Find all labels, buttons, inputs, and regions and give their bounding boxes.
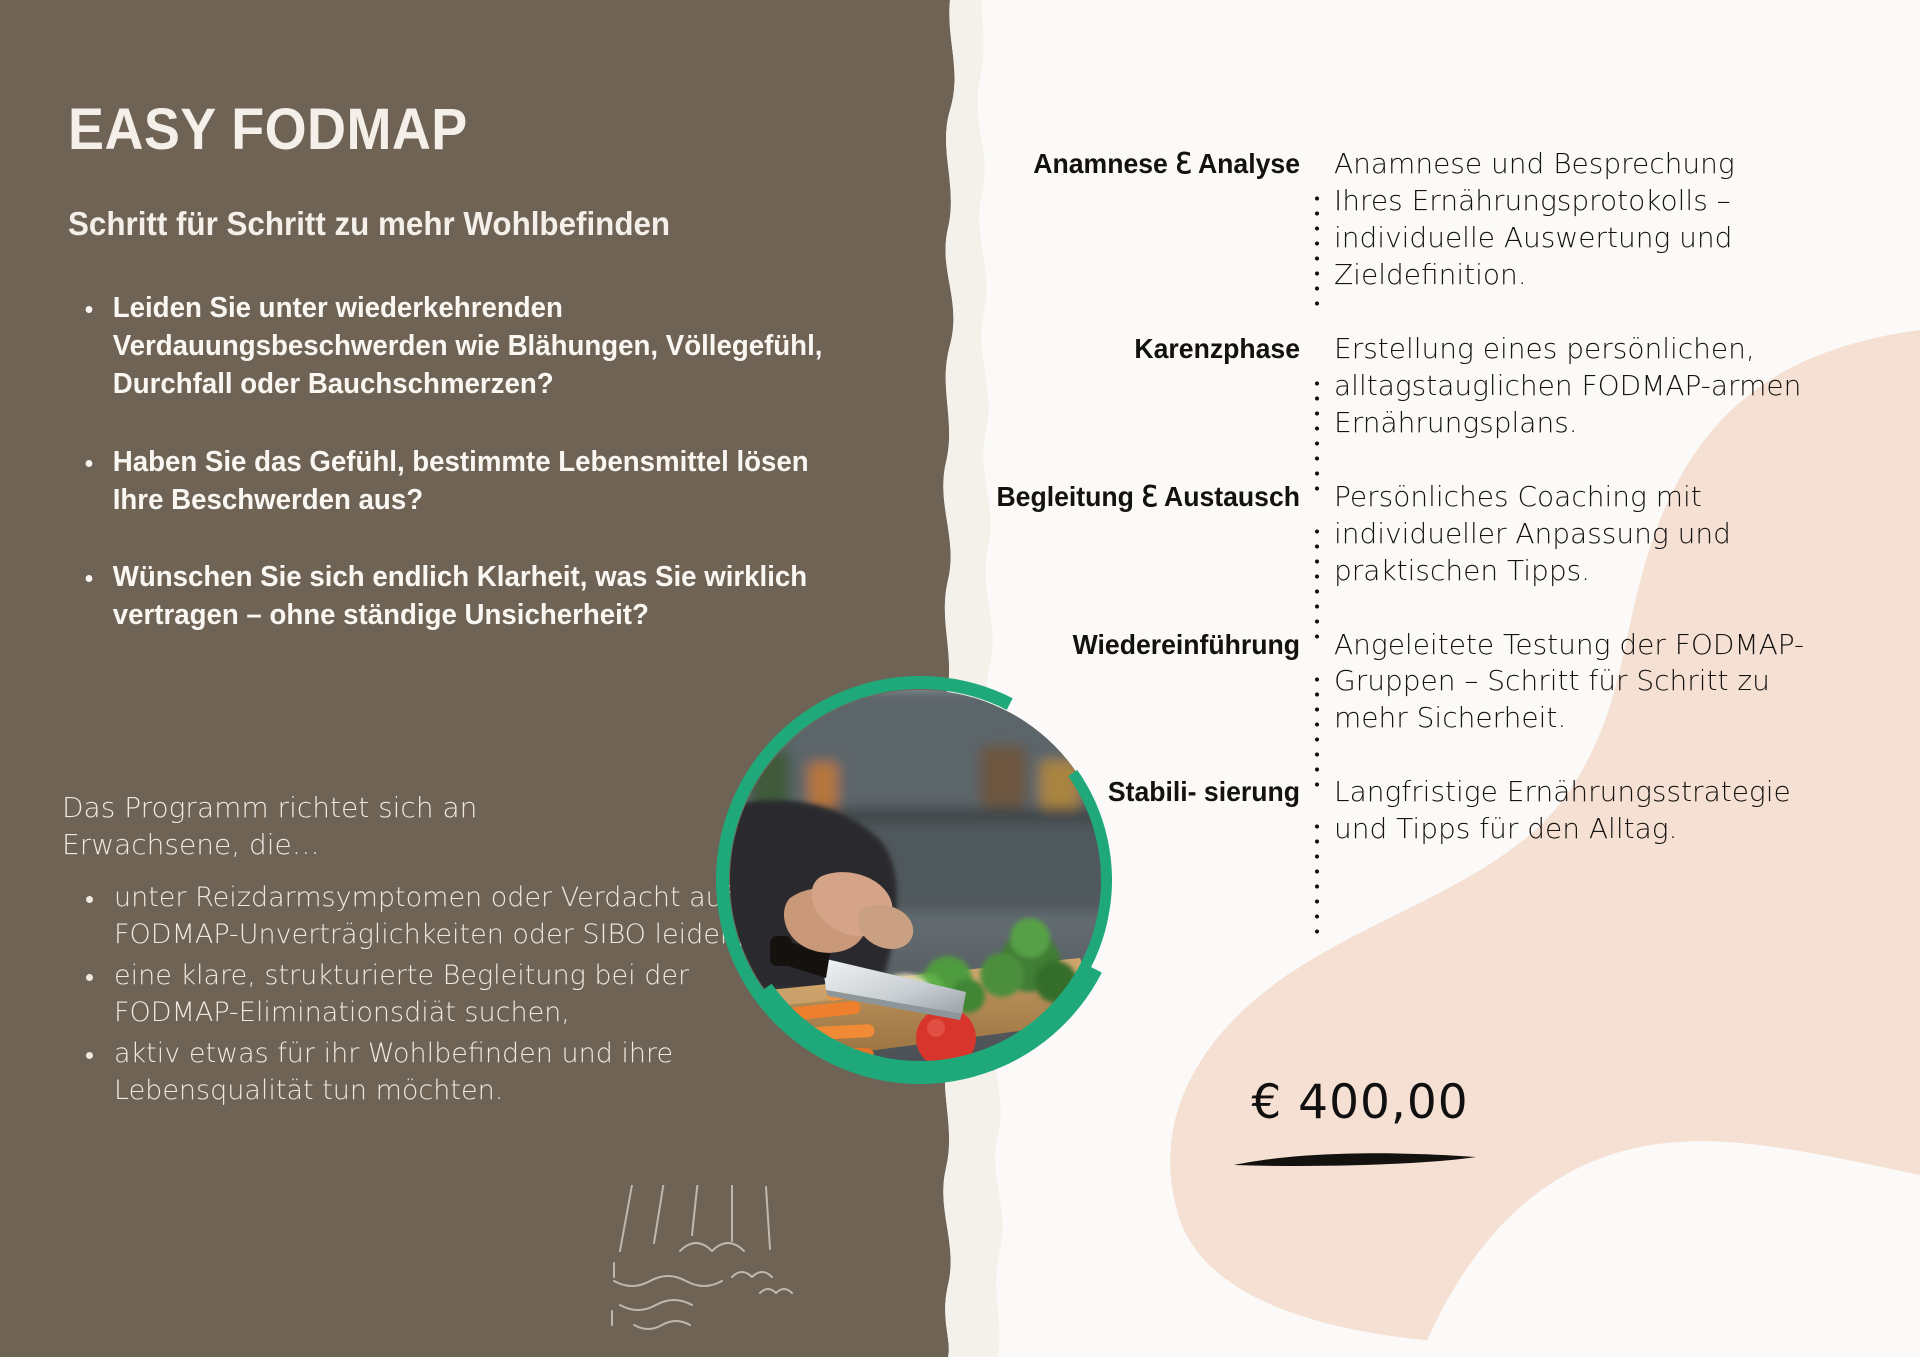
audience-list: unter Reizdarmsymptomen oder Verdacht au… <box>72 880 772 1114</box>
timeline-step-description: Erstellung eines persönlichen, alltagsta… <box>1334 330 1810 442</box>
dotted-connector-icon <box>1300 773 1334 848</box>
list-item: Haben Sie das Gefühl, bestimmte Lebensmi… <box>72 444 858 520</box>
page-subtitle: Schritt für Schritt zu mehr Wohlbefinden <box>68 205 670 243</box>
audience-intro: Das Programm richtet sich an Erwachsene,… <box>62 790 582 864</box>
timeline-step: Karenzphase Erstellung eines persönliche… <box>980 330 1810 442</box>
timeline-step: Begleitung Ꜫ Austausch Persönliches Coac… <box>980 478 1810 590</box>
list-item: aktiv etwas für ihr Wohlbefinden und ihr… <box>72 1036 772 1110</box>
timeline-step-label: Anamnese Ꜫ Analyse <box>996 145 1300 294</box>
timeline-step-description: Angeleitete Testung der FODMAP-Gruppen –… <box>1334 626 1810 738</box>
birds-and-waves-icon <box>610 1185 830 1335</box>
dotted-connector-icon <box>1300 145 1334 294</box>
timeline-step-description: Langfristige Ernährungsstrategie und Tip… <box>1334 773 1810 848</box>
list-item: eine klare, strukturierte Begleitung bei… <box>72 958 772 1032</box>
poster-canvas: EASY FODMAP Schritt für Schritt zu mehr … <box>0 0 1920 1357</box>
dotted-connector-icon <box>1300 626 1334 738</box>
dotted-connector-icon <box>1300 330 1334 442</box>
list-item: Leiden Sie unter wiederkehrenden Verdauu… <box>72 290 858 404</box>
timeline-step-description: Persönliches Coaching mit individueller … <box>1334 478 1810 590</box>
page-title: EASY FODMAP <box>68 96 468 163</box>
avatar <box>730 690 1110 1070</box>
price-value: € 400,00 <box>1230 1075 1490 1130</box>
list-item: Wünschen Sie sich endlich Klarheit, was … <box>72 559 858 635</box>
price-block: € 400,00 <box>1230 1075 1490 1175</box>
timeline-step-description: Anamnese und Besprechung Ihres Ernährung… <box>1334 145 1810 294</box>
timeline-step-label: Begleitung Ꜫ Austausch <box>996 478 1300 590</box>
brush-underline-icon <box>1230 1148 1490 1170</box>
dotted-connector-icon <box>1300 478 1334 590</box>
green-ring-inner <box>698 658 1143 1103</box>
question-list: Leiden Sie unter wiederkehrenden Verdauu… <box>72 290 882 675</box>
timeline-step-label: Karenzphase <box>996 330 1300 442</box>
timeline-step: Anamnese Ꜫ Analyse Anamnese und Besprech… <box>980 145 1810 294</box>
list-item: unter Reizdarmsymptomen oder Verdacht au… <box>72 880 772 954</box>
left-content-column: EASY FODMAP Schritt für Schritt zu mehr … <box>0 0 920 1357</box>
